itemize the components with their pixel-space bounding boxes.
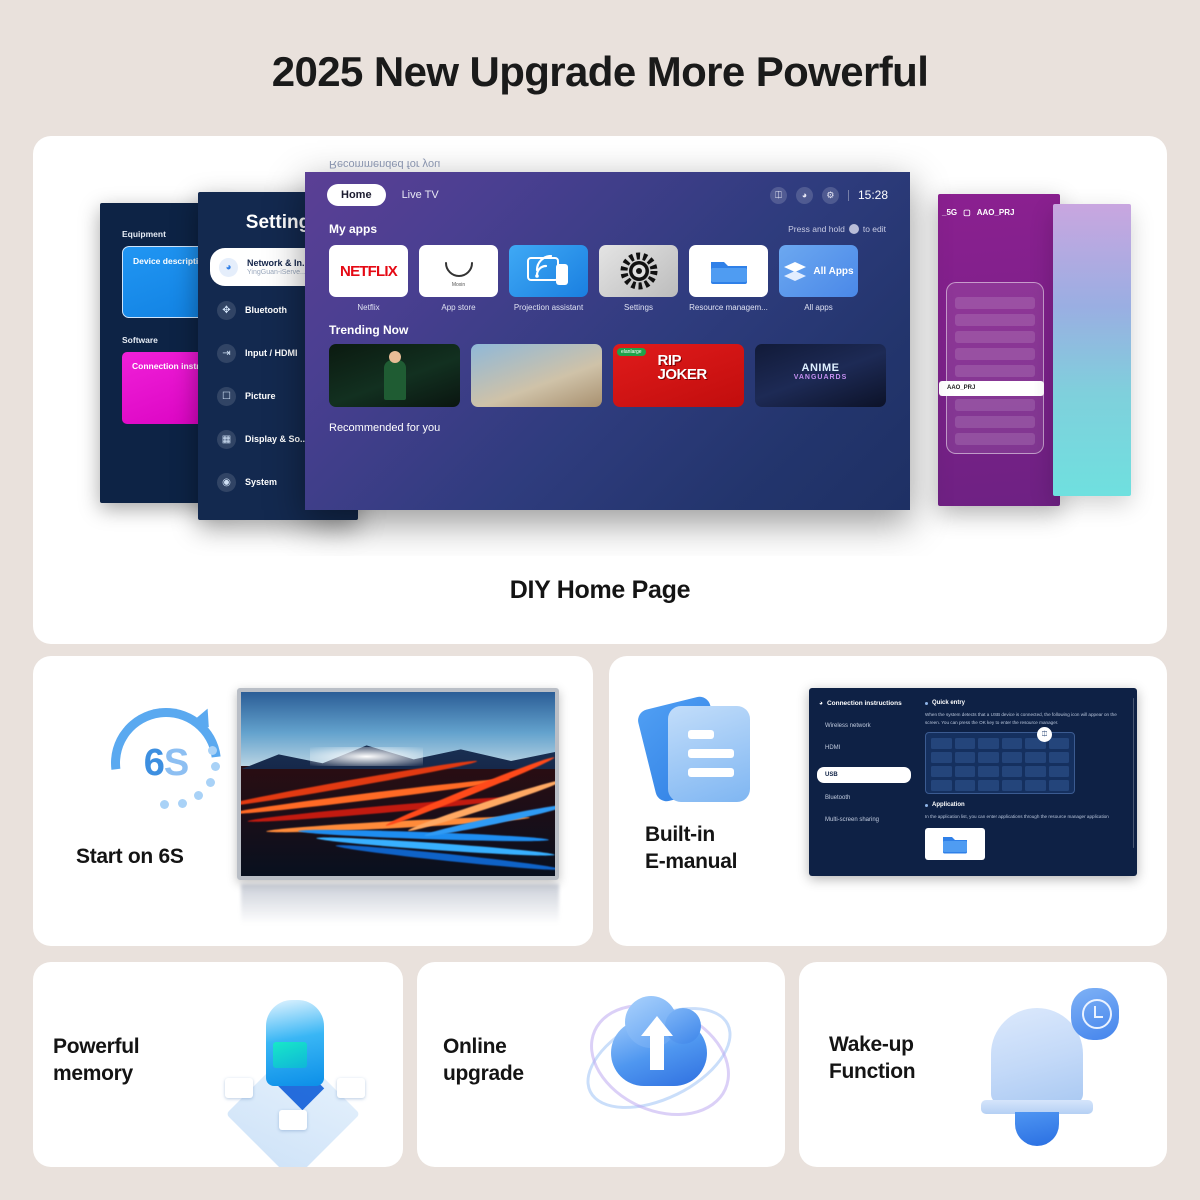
- feature-card-memory: Powerful memory: [33, 962, 403, 1167]
- bell-body: [991, 1008, 1083, 1104]
- settings-item-display-label: Display & So...: [245, 434, 308, 444]
- manual-menu-hdmi[interactable]: HDMI: [819, 745, 919, 751]
- feature-label-memory-line1: Powerful: [53, 1035, 139, 1058]
- app-all-apps[interactable]: All Apps All apps: [779, 245, 858, 312]
- app-netflix-label: Netflix: [329, 303, 408, 312]
- app-resource-manager-label: Resource managem...: [689, 303, 768, 312]
- document-icon: [646, 694, 754, 806]
- appstore-icon: Moxin: [419, 245, 498, 297]
- app-settings-label: Settings: [599, 303, 678, 312]
- e-manual-screenshot: ◕ Connection instructions Wireless netwo…: [809, 688, 1137, 876]
- list-item: [955, 314, 1035, 326]
- feature-card-wakeup: Wake-up Function: [799, 962, 1167, 1167]
- app-app-store-label: App store: [419, 303, 498, 312]
- doc-front-sheet: [668, 706, 750, 802]
- my-apps-row: NETFLIX Netflix Moxin App store: [305, 236, 910, 312]
- system-icon: ◉: [217, 473, 236, 492]
- feature-label-memory: Powerful memory: [53, 1034, 139, 1088]
- gradient-screen-panel: [1053, 204, 1131, 496]
- cast-icon: [509, 245, 588, 297]
- settings-item-network-label: Network & In...: [247, 258, 310, 268]
- list-item: [955, 331, 1035, 343]
- app-netflix[interactable]: NETFLIX Netflix: [329, 245, 408, 312]
- feature-label-e-manual-line2: E-manual: [645, 850, 737, 873]
- chip-pad: [337, 1078, 365, 1098]
- edit-hint-prefix: Press and hold: [788, 224, 845, 234]
- tv-topbar: Home Live TV ⎅ ◕ ⚙ 15:28: [305, 172, 910, 218]
- all-apps-tile-label: All Apps: [813, 266, 853, 277]
- manual-sidebar: ◕ Connection instructions Wireless netwo…: [809, 688, 919, 876]
- feature-card-e-manual: Built-in E-manual ◕ Connection instructi…: [609, 656, 1167, 946]
- hero-card: Equipment Device description Software Co…: [33, 136, 1167, 644]
- list-item: [955, 348, 1035, 360]
- settings-item-picture-label: Picture: [245, 391, 276, 401]
- my-apps-title: My apps: [329, 222, 377, 236]
- bullet-icon: [925, 702, 928, 705]
- clock-time: 15:28: [858, 188, 888, 202]
- six-seconds-icon: 6S: [111, 708, 221, 818]
- list-item: [955, 365, 1035, 377]
- manual-menu-usb[interactable]: USB: [817, 767, 911, 783]
- bell-clock-icon: [965, 984, 1115, 1144]
- manual-section-application: Application: [925, 802, 1125, 808]
- recommended-title: Recommended for you: [305, 407, 910, 434]
- edit-hint: Press and hold to edit: [788, 224, 886, 234]
- feature-label-wakeup: Wake-up Function: [829, 1032, 915, 1086]
- manual-title-row: ◕ Connection instructions: [819, 700, 919, 707]
- hero-stage: Equipment Device description Software Co…: [33, 136, 1167, 556]
- trending-thumb-3-title: RIPJOKER: [658, 354, 707, 382]
- chip-pad: [225, 1078, 253, 1098]
- list-item: [955, 297, 1035, 309]
- layers-icon: All Apps: [779, 245, 858, 297]
- manual-section-quick-entry-body: When the system detects that a USB devic…: [925, 711, 1125, 726]
- manual-content: Quick entry When the system detects that…: [919, 688, 1137, 876]
- app-all-apps-label: All apps: [779, 303, 858, 312]
- trending-header: Trending Now: [305, 323, 910, 337]
- settings-item-system-label: System: [245, 477, 277, 487]
- reflection-text: Recommended for you: [329, 158, 440, 170]
- trending-row: elanlarge RIPJOKER ANIMEVANGUARDS: [305, 337, 910, 407]
- feature-card-online-upgrade: Online upgrade: [417, 962, 785, 1167]
- app-settings[interactable]: Settings: [599, 245, 678, 312]
- person-figure: [384, 360, 406, 400]
- picture-icon: ☐: [217, 387, 236, 406]
- list-item: [955, 433, 1035, 445]
- wifi-icon[interactable]: ◕: [796, 187, 813, 204]
- settings-item-input-label: Input / HDMI: [245, 348, 298, 358]
- tv-image-reflection: [241, 884, 559, 924]
- app-app-store[interactable]: Moxin App store: [419, 245, 498, 312]
- settings-item-network-sub: YingGuan-iServe...: [247, 269, 310, 276]
- list-item: [955, 416, 1035, 428]
- manual-section-application-body: In the application list, you can enter a…: [925, 813, 1125, 821]
- clock-hand-minute: [1094, 1016, 1103, 1018]
- projector-device-panel: _5G ▢ AAO_PRJ AAO_PRJ: [938, 194, 1060, 506]
- hero-caption: DIY Home Page: [33, 576, 1167, 605]
- clock-badge-icon: [1071, 988, 1119, 1040]
- list-item: [955, 399, 1035, 411]
- upload-arrow-icon: [650, 1034, 664, 1070]
- projector-device-list: AAO_PRJ: [946, 282, 1044, 454]
- tab-live-tv[interactable]: Live TV: [402, 189, 439, 201]
- six-seconds-text: 6S: [111, 708, 221, 818]
- my-apps-header: My apps Press and hold to edit: [305, 222, 910, 236]
- tab-home[interactable]: Home: [327, 184, 386, 206]
- status-divider: [848, 190, 849, 201]
- feature-label-start-6s: Start on 6S: [76, 844, 184, 871]
- manual-section-quick-entry: Quick entry: [925, 700, 1125, 706]
- trending-thumb-4-title: ANIMEVANGUARDS: [755, 362, 886, 381]
- ok-button-icon: [849, 224, 859, 234]
- gear-icon: [599, 245, 678, 297]
- trending-thumb-4[interactable]: ANIMEVANGUARDS: [755, 344, 886, 407]
- app-projection-assistant[interactable]: Projection assistant: [509, 245, 588, 312]
- feature-label-online-line1: Online: [443, 1035, 507, 1058]
- folder-icon: [689, 245, 768, 297]
- bluetooth-icon: ✥: [217, 301, 236, 320]
- appstore-wordmark: Moxin: [452, 282, 465, 288]
- app-projection-assistant-label: Projection assistant: [509, 303, 588, 312]
- netflix-icon: NETFLIX: [329, 245, 408, 297]
- trending-thumb-3[interactable]: elanlarge RIPJOKER: [613, 344, 744, 407]
- usb-icon[interactable]: ⎅: [770, 187, 787, 204]
- display-icon: ▦: [217, 430, 236, 449]
- page-title: 2025 New Upgrade More Powerful: [0, 48, 1200, 96]
- glow-layer: [310, 747, 423, 765]
- network-5g-label: _5G: [942, 208, 957, 217]
- tv-product-image: [237, 688, 559, 880]
- input-icon: ⇥: [217, 344, 236, 363]
- chip-pad: [279, 1110, 307, 1130]
- tv-home-screen: Home Live TV ⎅ ◕ ⚙ 15:28 My apps Press a…: [305, 172, 910, 510]
- bell-clapper: [1015, 1112, 1059, 1146]
- netflix-wordmark: NETFLIX: [340, 263, 397, 280]
- cast-icon: ▢: [963, 208, 971, 217]
- feature-label-wakeup-line2: Function: [829, 1060, 915, 1083]
- manual-menu-bluetooth[interactable]: Bluetooth: [819, 795, 919, 801]
- edit-hint-suffix: to edit: [863, 224, 886, 234]
- feature-label-e-manual-line1: Built-in: [645, 823, 715, 846]
- bullet-icon: [925, 804, 928, 807]
- scrollbar[interactable]: [1133, 698, 1135, 848]
- chip-core: [266, 1000, 324, 1086]
- gear-icon[interactable]: ⚙: [822, 187, 839, 204]
- feature-label-wakeup-line1: Wake-up: [829, 1033, 914, 1056]
- folder-icon: [925, 828, 985, 860]
- keyboard-illustration: ⎅: [925, 732, 1075, 794]
- trending-thumb-2[interactable]: [471, 344, 602, 407]
- manual-section-quick-entry-title: Quick entry: [932, 700, 965, 706]
- cloud-upload-icon: [577, 986, 745, 1146]
- projector-panel-header: _5G ▢ AAO_PRJ: [938, 194, 1060, 217]
- feature-label-memory-line2: memory: [53, 1062, 133, 1085]
- manual-menu-multiscreen[interactable]: Multi-screen sharing: [819, 817, 919, 823]
- memory-chip-icon: [209, 982, 379, 1147]
- feature-label-e-manual: Built-in E-manual: [645, 822, 737, 876]
- wifi-icon: ◕: [219, 258, 238, 277]
- wifi-icon: ◕: [819, 700, 823, 707]
- selected-device-row[interactable]: AAO_PRJ: [939, 381, 1044, 396]
- settings-item-bluetooth-label: Bluetooth: [245, 305, 287, 315]
- badge-elanlarge: elanlarge: [617, 348, 646, 356]
- feature-label-online-upgrade: Online upgrade: [443, 1034, 524, 1088]
- feature-label-online-line2: upgrade: [443, 1062, 524, 1085]
- app-resource-manager[interactable]: Resource managem...: [689, 245, 768, 312]
- tv-status-area: ⎅ ◕ ⚙ 15:28: [770, 187, 888, 204]
- trending-title: Trending Now: [329, 323, 408, 337]
- feature-card-start-6s: 6S Start on 6S: [33, 656, 593, 946]
- manual-title: Connection instructions: [827, 700, 902, 707]
- manual-section-application-title: Application: [932, 802, 965, 808]
- manual-menu-wireless[interactable]: Wireless network: [819, 723, 919, 729]
- trending-thumb-1[interactable]: [329, 344, 460, 407]
- projector-name-label: AAO_PRJ: [977, 208, 1015, 217]
